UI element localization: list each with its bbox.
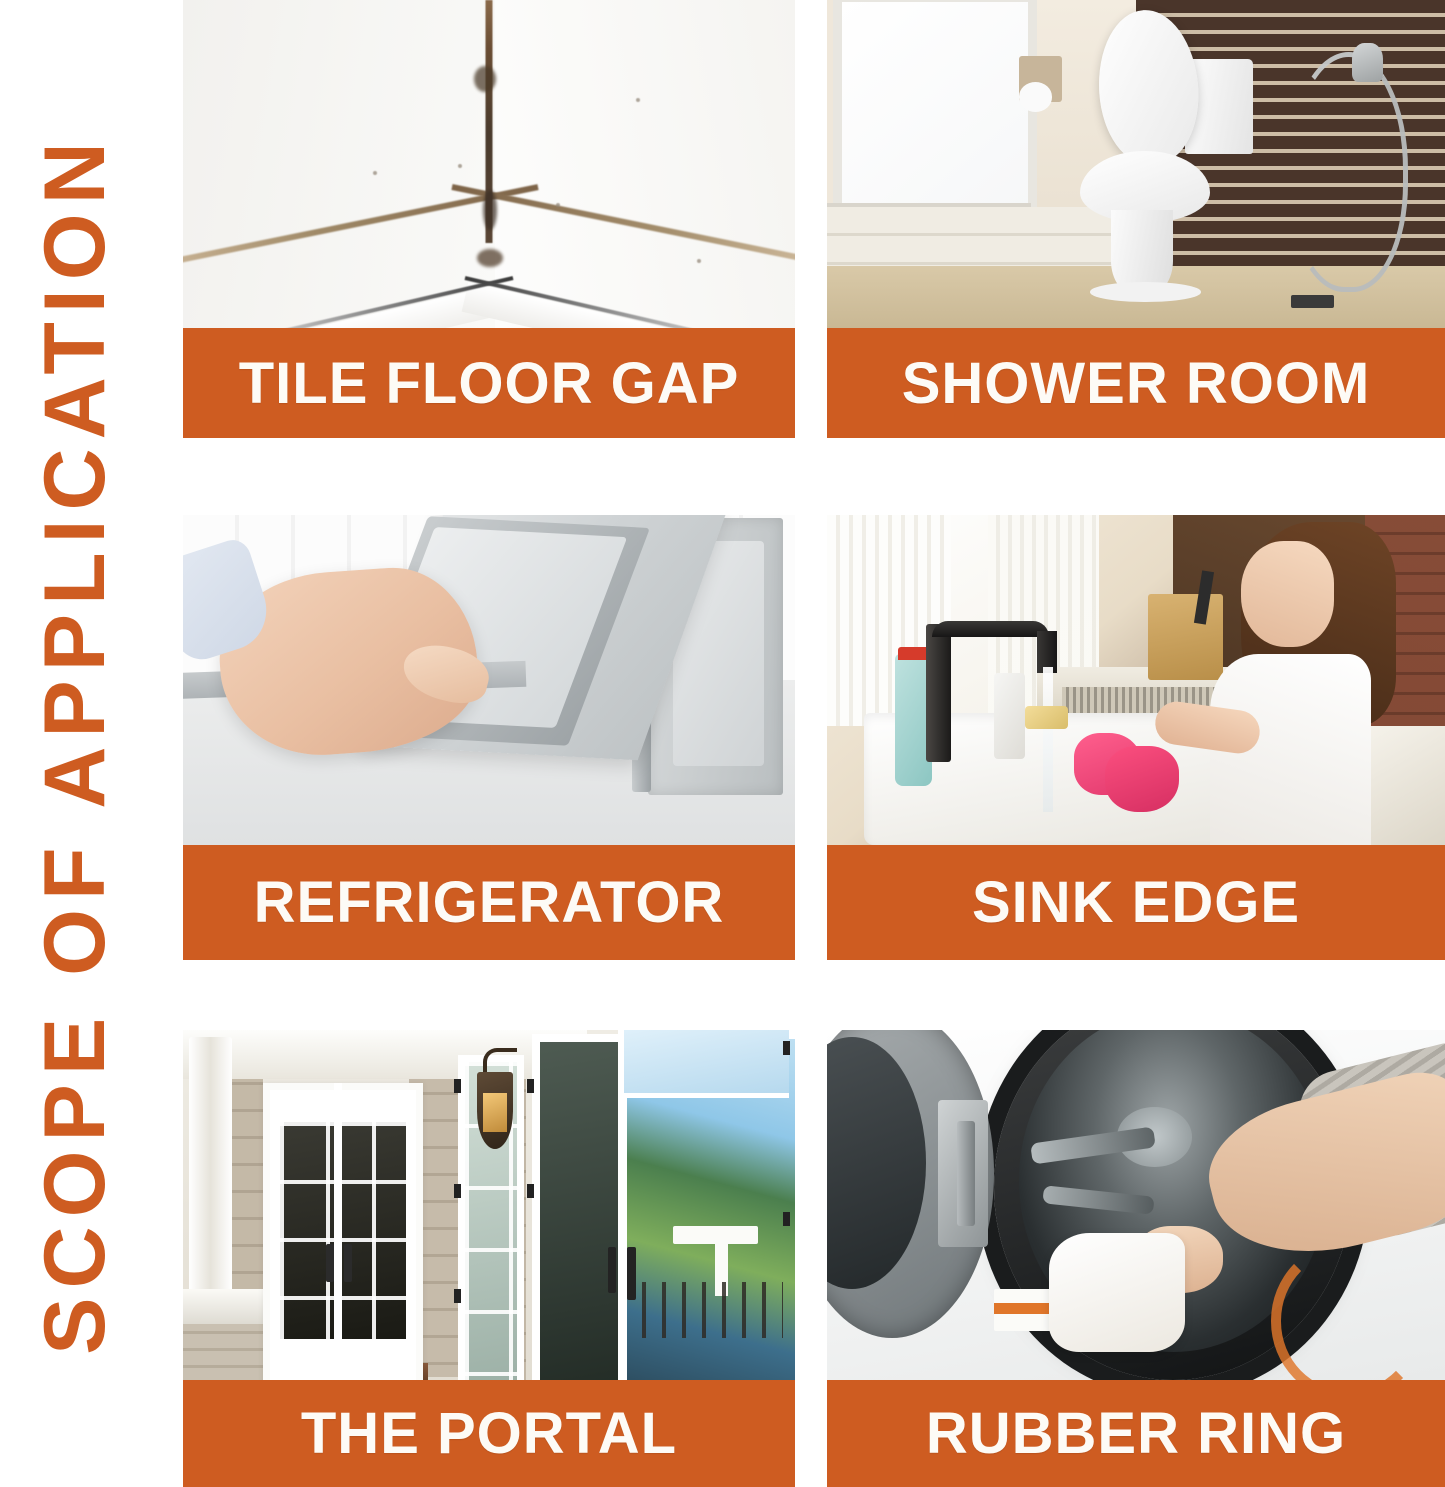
panel-label-the-portal: THE PORTAL bbox=[183, 1380, 795, 1487]
panel-refrigerator: REFRIGERATOR bbox=[183, 515, 795, 960]
panel-tile-floor-gap: TILE FLOOR GAP bbox=[183, 0, 795, 438]
photo-sink-edge bbox=[827, 515, 1445, 845]
panel-label-refrigerator: REFRIGERATOR bbox=[183, 845, 795, 960]
photo-rubber-ring bbox=[827, 1030, 1445, 1380]
panel-sink-edge: SINK EDGE bbox=[827, 515, 1445, 960]
panel-label-tile-floor-gap: TILE FLOOR GAP bbox=[183, 328, 795, 438]
scope-of-application-heading: SCOPE OF APPLICATION bbox=[0, 0, 150, 1487]
page-title: SCOPE OF APPLICATION bbox=[32, 133, 118, 1355]
panel-shower-room: SHOWER ROOM bbox=[827, 0, 1445, 438]
panel-label-shower-room: SHOWER ROOM bbox=[827, 328, 1445, 438]
panel-the-portal: THE PORTAL bbox=[183, 1030, 795, 1487]
panel-label-sink-edge: SINK EDGE bbox=[827, 845, 1445, 960]
photo-tile-floor-gap bbox=[183, 0, 795, 328]
panel-label-rubber-ring: RUBBER RING bbox=[827, 1380, 1445, 1487]
photo-shower-room bbox=[827, 0, 1445, 328]
application-scope-grid: TILE FLOOR GAP SHOWER ROOM bbox=[183, 0, 1445, 1487]
panel-rubber-ring: RUBBER RING bbox=[827, 1030, 1445, 1487]
photo-refrigerator bbox=[183, 515, 795, 845]
photo-the-portal bbox=[183, 1030, 795, 1380]
